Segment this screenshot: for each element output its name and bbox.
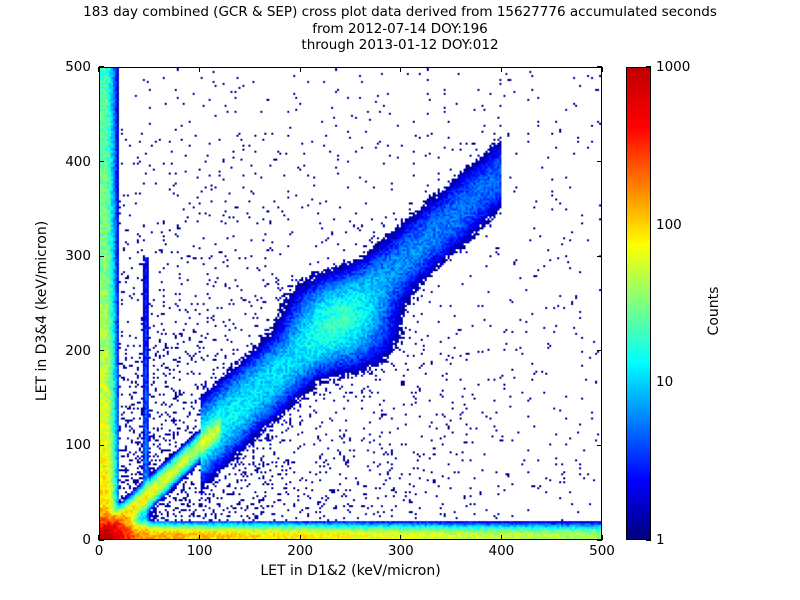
plot-area (99, 67, 602, 540)
colorbar-canvas (627, 68, 650, 539)
y-tick-right-200 (597, 350, 602, 351)
y-tick-0 (99, 539, 104, 540)
y-tick-label-500: 500 (41, 59, 91, 75)
x-tick-label-500: 500 (589, 543, 615, 559)
x-tick-label-300: 300 (388, 543, 414, 559)
colorbar-label: Counts (706, 221, 722, 401)
x-tick-top-200 (300, 67, 301, 72)
x-axis-label: LET in D1&2 (keV/micron) (99, 563, 602, 579)
colorbar-tick-label-100: 100 (656, 217, 682, 233)
x-tick-label-100: 100 (187, 543, 213, 559)
colorbar-tick-label-1: 1 (656, 532, 665, 548)
y-tick-right-500 (597, 66, 602, 67)
x-tick-400 (501, 535, 502, 540)
x-tick-200 (300, 535, 301, 540)
colorbar-tick-label-1000: 1000 (656, 59, 690, 75)
title-line-2: from 2012-07-14 DOY:196 (0, 21, 800, 38)
colorbar (626, 67, 651, 540)
y-tick-100 (99, 445, 104, 446)
x-tick-100 (199, 535, 200, 540)
title-line-3: through 2013-01-12 DOY:012 (0, 37, 800, 54)
y-tick-300 (99, 256, 104, 257)
y-tick-right-100 (597, 445, 602, 446)
y-tick-right-400 (597, 161, 602, 162)
y-tick-right-0 (597, 539, 602, 540)
histogram-canvas (100, 68, 601, 539)
chart-page: 183 day combined (GCR & SEP) cross plot … (0, 0, 800, 600)
x-tick-300 (400, 535, 401, 540)
y-tick-label-0: 0 (41, 532, 91, 548)
x-tick-top-100 (199, 67, 200, 72)
colorbar-tick-label-10: 10 (656, 374, 673, 390)
y-tick-400 (99, 161, 104, 162)
x-tick-top-0 (98, 67, 99, 72)
x-tick-top-500 (601, 67, 602, 72)
y-axis-label: LET in D3&4 (keV/micron) (34, 171, 50, 451)
y-tick-right-300 (597, 256, 602, 257)
x-tick-label-400: 400 (489, 543, 515, 559)
x-tick-top-400 (501, 67, 502, 72)
y-tick-500 (99, 66, 104, 67)
x-tick-top-300 (400, 67, 401, 72)
x-tick-label-0: 0 (95, 543, 104, 559)
y-tick-label-400: 400 (41, 154, 91, 170)
x-tick-label-200: 200 (287, 543, 313, 559)
chart-title: 183 day combined (GCR & SEP) cross plot … (0, 4, 800, 54)
title-line-1: 183 day combined (GCR & SEP) cross plot … (0, 4, 800, 21)
y-tick-200 (99, 350, 104, 351)
